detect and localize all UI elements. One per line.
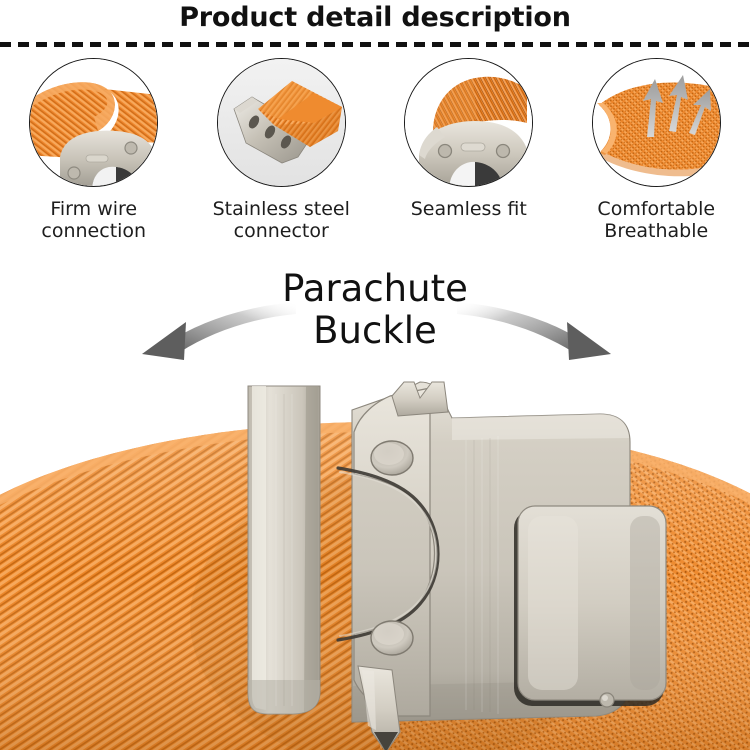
feature-label: Seamless fit [411,198,527,220]
product-detail-page: Product detail description [0,0,750,750]
feature-label: Firm wire connection [41,198,146,242]
seamless-fit-icon [404,58,533,187]
firm-wire-connection-icon [29,58,158,187]
feature-label: Comfortable Breathable [597,198,715,242]
curved-arrow-right-icon [455,296,625,376]
feature-list: Firm wire connection [0,58,750,258]
feature-item-comfortable-breathable: Comfortable Breathable [563,58,750,258]
curved-arrow-left-icon [128,296,298,376]
feature-label: Stainless steel connector [213,198,350,242]
stainless-steel-connector-icon [217,58,346,187]
feature-item-seamless-fit: Seamless fit [375,58,563,258]
feature-item-stainless-steel-connector: Stainless steel connector [188,58,376,258]
feature-item-firm-wire-connection: Firm wire connection [0,58,188,258]
product-photo-buckle [0,380,750,750]
comfortable-breathable-icon [592,58,721,187]
header-dashed-divider [0,42,750,47]
parachute-buckle-heading: Parachute Buckle [0,268,750,352]
page-title: Product detail description [0,2,750,33]
